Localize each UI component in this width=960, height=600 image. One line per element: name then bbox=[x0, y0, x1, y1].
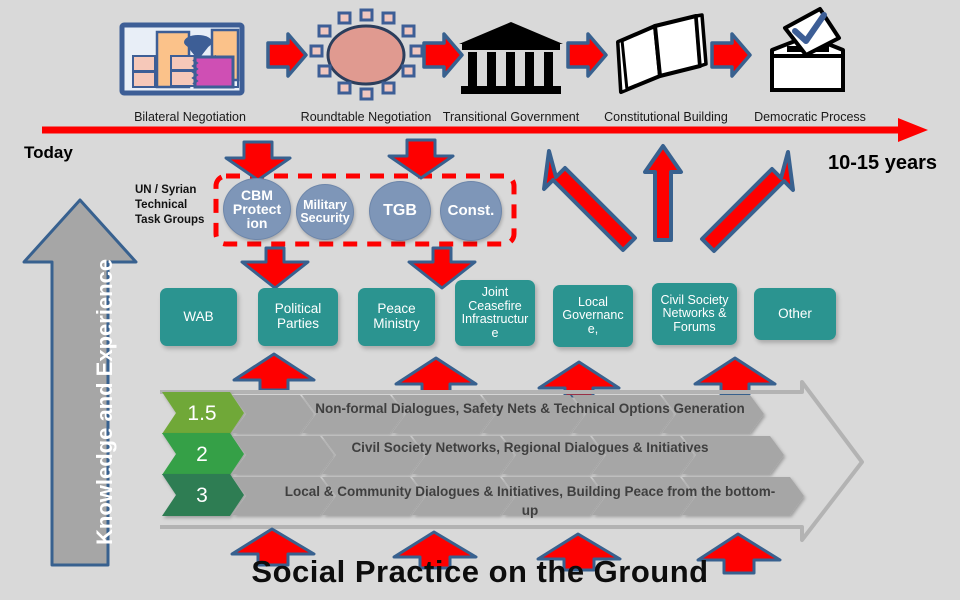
institution-local-governance-line-1: Local bbox=[562, 296, 623, 310]
institution-other-line-1: Other bbox=[778, 307, 812, 322]
track-label-3-line-1: Local & Community Dialogues & Initiative… bbox=[250, 484, 810, 500]
task-group-const[interactable]: Const. bbox=[440, 181, 502, 241]
phase-label-roundtable-negotiation: Roundtable Negotiation bbox=[296, 110, 436, 124]
footer-title: Social Practice on the Ground bbox=[0, 554, 960, 590]
up-arrow-under-peace-ministry bbox=[396, 358, 476, 392]
institution-local-governance[interactable]: Local Governanc e, bbox=[553, 285, 633, 347]
timeline-start-label: Today bbox=[24, 143, 73, 163]
institution-joint-ceasefire-line-2: Ceasefire bbox=[462, 300, 529, 314]
institution-joint-ceasefire-line-3: Infrastructur bbox=[462, 313, 529, 327]
track-label-2: Civil Society Networks, Regional Dialogu… bbox=[250, 440, 810, 456]
institution-local-governance-line-3: e, bbox=[562, 323, 623, 337]
diagram-canvas: Bilateral Negotiation Roundtable Negotia… bbox=[0, 0, 960, 600]
phase-label-democratic-process: Democratic Process bbox=[740, 110, 880, 124]
track-label-3-line-2: up bbox=[250, 503, 810, 519]
task-group-cbm-protection-line-3: ion bbox=[233, 216, 281, 230]
up-arrow-under-political-parties bbox=[234, 354, 314, 390]
institution-peace-ministry-line-2: Ministry bbox=[373, 317, 420, 332]
track-number-2: 2 bbox=[172, 443, 232, 467]
timeline-end-label: 10-15 years bbox=[828, 152, 937, 175]
institution-joint-ceasefire-infrastructure[interactable]: Joint Ceasefire Infrastructur e bbox=[455, 280, 535, 346]
negotiation-table-icon bbox=[122, 25, 242, 93]
phase-arrow-3 bbox=[568, 34, 606, 76]
institution-other[interactable]: Other bbox=[754, 288, 836, 340]
track-number-1-5: 1.5 bbox=[172, 402, 232, 426]
institution-civil-society-line-1: Civil Society bbox=[660, 294, 728, 308]
task-group-military-security-line-2: Security bbox=[300, 212, 349, 225]
down-arrow-to-political-parties bbox=[242, 248, 308, 288]
institution-joint-ceasefire-line-1: Joint bbox=[462, 286, 529, 300]
diagonal-arrow-up-left bbox=[544, 151, 635, 250]
ballot-box-icon bbox=[772, 9, 843, 90]
roundtable-icon bbox=[311, 10, 422, 99]
task-groups-caption-line-1: UN / Syrian bbox=[135, 183, 230, 198]
task-groups-caption-line-3: Task Groups bbox=[135, 213, 230, 228]
phase-arrow-2 bbox=[424, 34, 462, 76]
institution-political-parties-line-2: Parties bbox=[275, 317, 322, 332]
knowledge-and-experience-arrow bbox=[24, 200, 136, 565]
phase-label-bilateral-negotiation: Bilateral Negotiation bbox=[120, 110, 260, 124]
task-group-const-label: Const. bbox=[448, 203, 495, 218]
task-group-military-security[interactable]: Military Security bbox=[296, 184, 354, 240]
task-group-tgb-label: TGB bbox=[383, 203, 417, 219]
phase-arrow-4 bbox=[712, 34, 750, 76]
vertical-arrow-up-middle bbox=[645, 146, 681, 240]
phase-label-constitutional-building: Constitutional Building bbox=[596, 110, 736, 124]
phase-arrow-1 bbox=[268, 34, 306, 76]
track-label-1-5: Non-formal Dialogues, Safety Nets & Tech… bbox=[250, 401, 810, 417]
institution-local-governance-line-2: Governanc bbox=[562, 309, 623, 323]
institution-wab-line-1: WAB bbox=[183, 310, 213, 325]
institution-wab[interactable]: WAB bbox=[160, 288, 237, 346]
knowledge-and-experience-label: Knowledge and Experience bbox=[92, 259, 118, 545]
up-arrow-from-tgb bbox=[389, 140, 453, 178]
institution-political-parties[interactable]: Political Parties bbox=[258, 288, 338, 346]
institution-political-parties-line-1: Political bbox=[275, 302, 322, 317]
phase-label-transitional-government: Transitional Government bbox=[441, 110, 581, 124]
institution-peace-ministry[interactable]: Peace Ministry bbox=[358, 288, 435, 346]
task-group-cbm-protection[interactable]: CBM Protect ion bbox=[223, 178, 291, 240]
institution-civil-society-line-2: Networks & bbox=[660, 307, 728, 321]
institution-peace-ministry-line-1: Peace bbox=[373, 302, 420, 317]
institution-civil-society-line-3: Forums bbox=[660, 321, 728, 335]
track-number-3: 3 bbox=[172, 484, 232, 508]
up-arrow-under-civil-society bbox=[695, 358, 775, 394]
task-group-cbm-protection-line-2: Protect bbox=[233, 202, 281, 216]
government-building-icon bbox=[459, 22, 563, 94]
task-groups-caption: UN / Syrian Technical Task Groups bbox=[135, 183, 230, 228]
open-book-icon bbox=[618, 15, 706, 92]
diagonal-arrow-up-right bbox=[702, 152, 793, 251]
institution-joint-ceasefire-line-4: e bbox=[462, 327, 529, 341]
institution-civil-society-networks-forums[interactable]: Civil Society Networks & Forums bbox=[652, 283, 737, 345]
task-group-cbm-protection-line-1: CBM bbox=[233, 188, 281, 202]
task-groups-caption-line-2: Technical bbox=[135, 198, 230, 213]
task-group-tgb[interactable]: TGB bbox=[369, 181, 431, 241]
